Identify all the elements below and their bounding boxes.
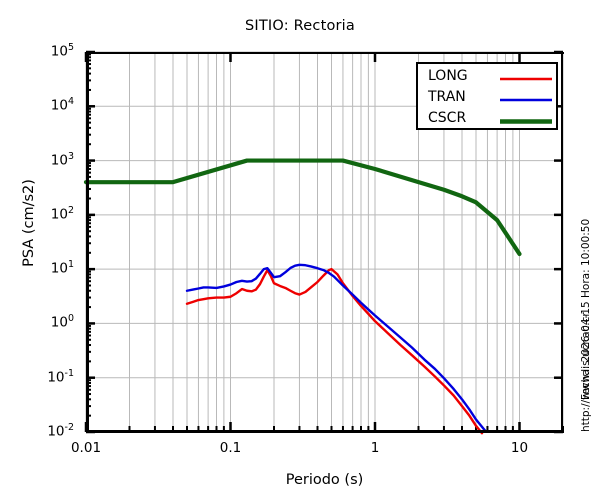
axis-frame-bottom — [86, 430, 564, 433]
legend-item-long: LONG — [418, 68, 560, 88]
x-tick-label: 10 — [511, 440, 528, 456]
x-axis-title: Periodo (s) — [86, 472, 563, 488]
y-tick-label: 10-2 — [18, 422, 74, 440]
axis-frame-top — [86, 52, 564, 54]
x-tick-label: 0.01 — [71, 440, 101, 456]
chart-root: SITIO: Rectoria 10510410310210110010-110… — [0, 0, 600, 500]
legend: LONG TRAN CSCR — [416, 62, 558, 130]
x-tick-label: 1 — [371, 440, 380, 456]
legend-item-cscr: CSCR — [418, 110, 560, 130]
legend-label-tran: TRAN — [428, 89, 466, 105]
y-tick-label: 100 — [18, 313, 74, 331]
legend-item-tran: TRAN — [418, 89, 560, 109]
legend-swatch-tran — [500, 97, 552, 103]
legend-swatch-long — [500, 76, 552, 82]
y-axis-title: PSA (cm/s2) — [21, 153, 37, 293]
website-annotation: http://www.lis.ucr.ac.cr — [580, 312, 592, 432]
legend-label-long: LONG — [428, 68, 468, 84]
axis-frame-right — [561, 52, 563, 433]
x-tick-label: 0.1 — [220, 440, 241, 456]
y-tick-label: 10-1 — [18, 368, 74, 386]
y-tick-label: 104 — [18, 96, 74, 114]
legend-swatch-cscr — [500, 118, 552, 125]
y-tick-label: 105 — [18, 42, 74, 60]
axis-frame-left — [86, 52, 89, 433]
legend-label-cscr: CSCR — [428, 110, 466, 126]
